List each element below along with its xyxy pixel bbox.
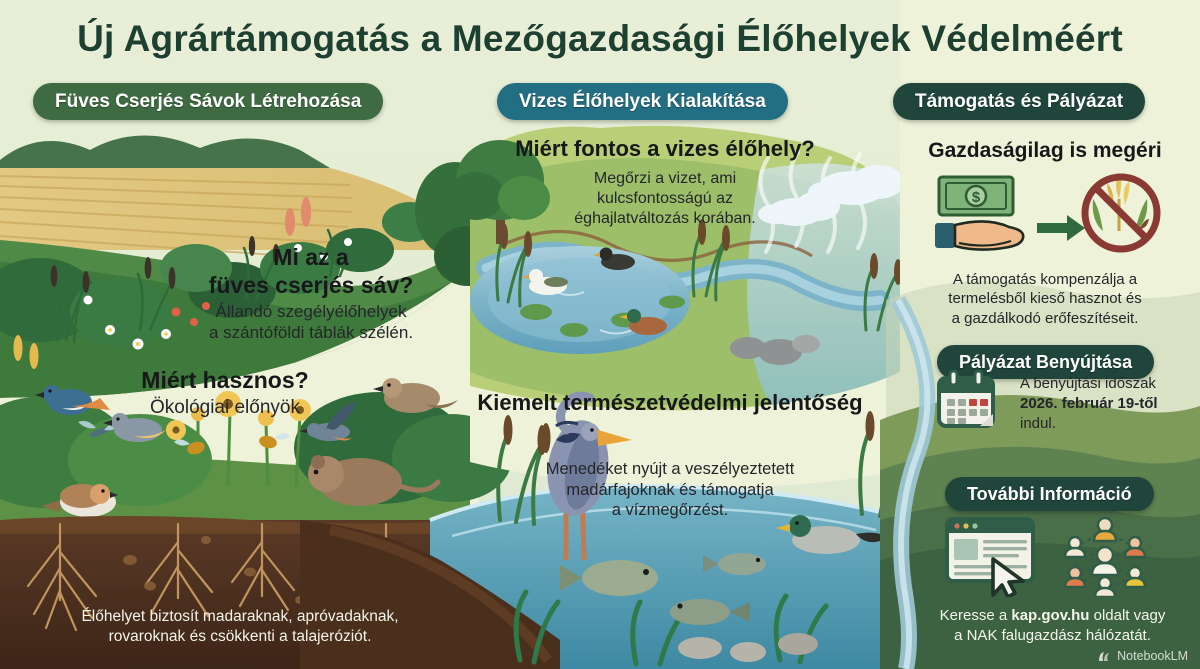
hand-icon bbox=[935, 221, 1023, 249]
economy-body-line1: A támogatás kompenzálja a bbox=[905, 270, 1185, 290]
info-body-line1: Keresse a kap.gov.hu oldalt vagy bbox=[920, 606, 1185, 626]
nature-value-body-line2: madárfajoknak és támogatja bbox=[470, 480, 870, 501]
svg-text:$: $ bbox=[972, 189, 981, 206]
person-node bbox=[1065, 518, 1145, 597]
wetland-why-heading: Miért fontos a vizes élőhely? bbox=[490, 136, 840, 163]
soil-caption-line1: Élőhelyet biztosít madaraknak, apróvadak… bbox=[60, 607, 420, 627]
info-text-block: Keresse a kap.gov.hu oldalt vagy a NAK f… bbox=[920, 606, 1185, 646]
arrow-right-icon bbox=[1037, 215, 1085, 241]
nature-value-heading: Kiemelt természetvédelmi jelentőség bbox=[470, 390, 870, 417]
info-pill[interactable]: További Információ bbox=[945, 477, 1154, 511]
nature-value-body-line1: Menedéket nyújt a veszélyeztetett bbox=[470, 459, 870, 480]
page-title: Új Agrártámogatás a Mezőgazdasági Élőhel… bbox=[0, 18, 1200, 60]
wetland-why-block: Miért fontos a vizes élőhely? Megőrzi a … bbox=[490, 136, 840, 229]
wetland-why-body-line2: kulcsfontosságú az bbox=[490, 189, 840, 209]
money-hand-icon: $ bbox=[933, 173, 1163, 255]
soil-caption-block: Élőhelyet biztosít madaraknak, apróvadak… bbox=[60, 607, 420, 647]
what-is-body-line2: a szántóföldi táblák szélén. bbox=[186, 323, 436, 344]
section-pill-grass[interactable]: Füves Cserjés Sávok Létrehozása bbox=[33, 83, 383, 120]
economy-body-line3: a gazdálkodó erőfeszítéseit. bbox=[905, 309, 1185, 329]
wetland-why-body-line1: Megőrzi a vizet, ami bbox=[490, 169, 840, 189]
watermark: NotebookLM bbox=[1097, 649, 1188, 663]
notebooklm-logo-icon bbox=[1097, 650, 1112, 663]
calendar-icon bbox=[933, 370, 999, 432]
what-is-body-line1: Állandó szegélyélőhelyek bbox=[186, 302, 436, 323]
what-is-heading-line1: Mi az a bbox=[186, 243, 436, 271]
info-body-link[interactable]: kap.gov.hu bbox=[1011, 607, 1089, 624]
apply-body-line1: A benyújtási időszak bbox=[1020, 374, 1182, 394]
no-crop-prohibition-icon bbox=[1085, 175, 1157, 249]
why-useful-heading: Miért hasznos? bbox=[110, 366, 340, 394]
info-body-prefix: Keresse a bbox=[940, 607, 1012, 624]
watermark-label: NotebookLM bbox=[1117, 649, 1188, 663]
what-is-heading-line2: füves cserjés sáv? bbox=[186, 271, 436, 299]
why-useful-block: Miért hasznos? Ökológiai előnyök bbox=[110, 366, 340, 419]
section-pill-wetland[interactable]: Vizes Élőhelyek Kialakítása bbox=[497, 83, 788, 120]
nature-value-block: Kiemelt természetvédelmi jelentőség Mene… bbox=[470, 390, 870, 521]
info-body-suffix: oldalt vagy bbox=[1089, 607, 1165, 624]
economy-body-line2: termelésből kieső hasznot és bbox=[905, 289, 1185, 309]
apply-body-line3: indul. bbox=[1020, 414, 1182, 434]
apply-body-date: 2026. február 19-től bbox=[1020, 394, 1182, 414]
info-icons bbox=[945, 513, 1175, 597]
economy-heading: Gazdaságilag is megéri bbox=[905, 138, 1185, 164]
section-pill-support[interactable]: Támogatás és Pályázat bbox=[893, 83, 1145, 120]
info-body-line2: a NAK falugazdász hálózatát. bbox=[920, 626, 1185, 646]
browser-window-icon bbox=[947, 519, 1033, 597]
why-useful-subheading: Ökológiai előnyök bbox=[110, 396, 340, 419]
soil-caption-line2: rovaroknak és csökkenti a talajeróziót. bbox=[60, 627, 420, 647]
nature-value-body-line3: a vízmegőrzést. bbox=[470, 500, 870, 521]
infographic-poster: Új Agrártámogatás a Mezőgazdasági Élőhel… bbox=[0, 0, 1200, 669]
wetland-why-body-line3: éghajlatváltozás korában. bbox=[490, 209, 840, 229]
what-is-block: Mi az a füves cserjés sáv? Állandó szegé… bbox=[186, 243, 436, 344]
apply-text-block: A benyújtási időszak 2026. február 19-tő… bbox=[1020, 374, 1182, 434]
banknote-icon: $ bbox=[939, 177, 1013, 215]
